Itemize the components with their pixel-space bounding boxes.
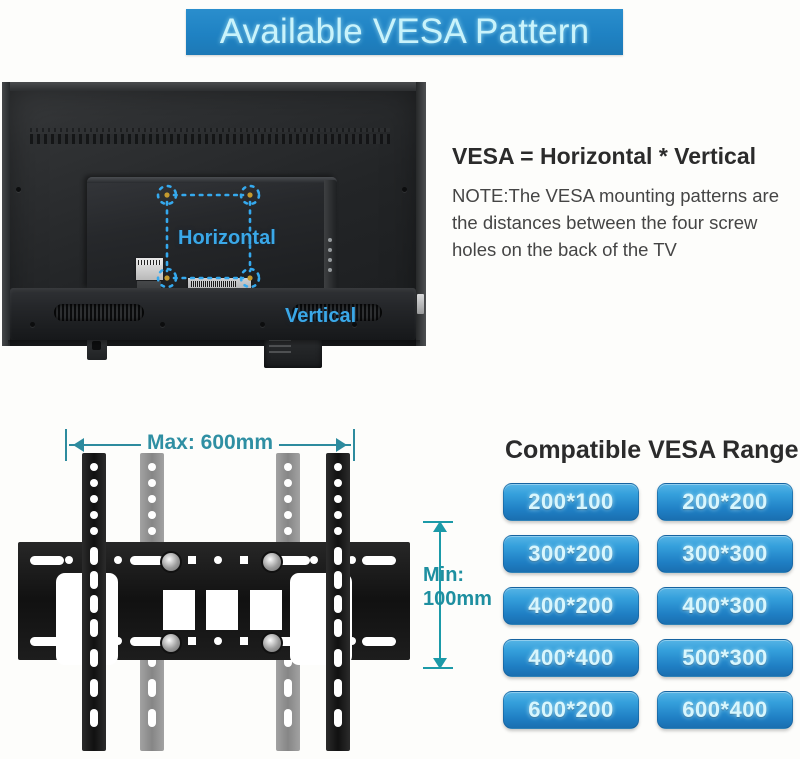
- vesa-formula-text: VESA = Horizontal * Vertical: [452, 143, 796, 170]
- tv-back-illustration: Horizontal Vertical: [2, 82, 426, 346]
- mount-arm-black-right: [326, 453, 350, 751]
- vesa-note-text: NOTE:The VESA mounting patterns are the …: [452, 182, 792, 263]
- vesa-pattern-button[interactable]: 600*400: [657, 691, 793, 729]
- mount-boss-top-right: [261, 551, 283, 573]
- vesa-pattern-button[interactable]: 400*200: [503, 587, 639, 625]
- mount-boss-top-left: [160, 551, 182, 573]
- mount-bracket-assembly: [18, 453, 410, 751]
- mount-arm-black-left: [82, 453, 106, 751]
- arrow-left-icon: [73, 438, 84, 452]
- infographic-page: Available VESA Pattern: [0, 0, 800, 759]
- label-vertical: Vertical: [285, 305, 356, 328]
- vesa-pattern-label: 600*200: [528, 697, 613, 723]
- mount-boss-bottom-right: [261, 632, 283, 654]
- vesa-pattern-overlay: [2, 82, 426, 346]
- page-title: Available VESA Pattern: [220, 12, 590, 52]
- vesa-pattern-label: 400*300: [682, 593, 767, 619]
- vesa-pattern-button[interactable]: 400*300: [657, 587, 793, 625]
- page-title-banner: Available VESA Pattern: [186, 9, 623, 55]
- vesa-pattern-label: 200*200: [682, 489, 767, 515]
- vesa-pattern-button[interactable]: 500*300: [657, 639, 793, 677]
- compatible-range-heading: Compatible VESA Range: [505, 436, 799, 465]
- min-height-label: Min: 100mm: [423, 563, 492, 611]
- max-width-label: Max: 600mm: [141, 431, 279, 455]
- wall-mount-diagram: Max: 600mm Min: 100mm: [10, 415, 440, 755]
- vesa-pattern-label: 200*100: [528, 489, 613, 515]
- mount-wall-plate: [18, 542, 410, 660]
- arrow-up-icon: [433, 521, 447, 532]
- vesa-pattern-button[interactable]: 300*200: [503, 535, 639, 573]
- vesa-pattern-label: 500*300: [682, 645, 767, 671]
- vesa-pattern-label: 300*200: [528, 541, 613, 567]
- vesa-pattern-button[interactable]: 300*300: [657, 535, 793, 573]
- arrow-down-icon: [433, 658, 447, 669]
- vesa-pattern-label: 600*400: [682, 697, 767, 723]
- arrow-right-icon: [336, 438, 347, 452]
- vesa-pattern-button[interactable]: 400*400: [503, 639, 639, 677]
- min-height-dimension: Min: 100mm: [415, 521, 485, 669]
- vesa-pattern-button[interactable]: 200*200: [657, 483, 793, 521]
- mount-boss-bottom-left: [160, 632, 182, 654]
- vesa-pattern-grid: 200*100 200*200 300*200 300*300 400*200 …: [503, 483, 793, 729]
- label-horizontal: Horizontal: [178, 227, 276, 250]
- vesa-pattern-label: 400*200: [528, 593, 613, 619]
- vesa-pattern-button[interactable]: 600*200: [503, 691, 639, 729]
- vesa-pattern-button[interactable]: 200*100: [503, 483, 639, 521]
- vesa-pattern-label: 300*300: [682, 541, 767, 567]
- vesa-pattern-label: 400*400: [528, 645, 613, 671]
